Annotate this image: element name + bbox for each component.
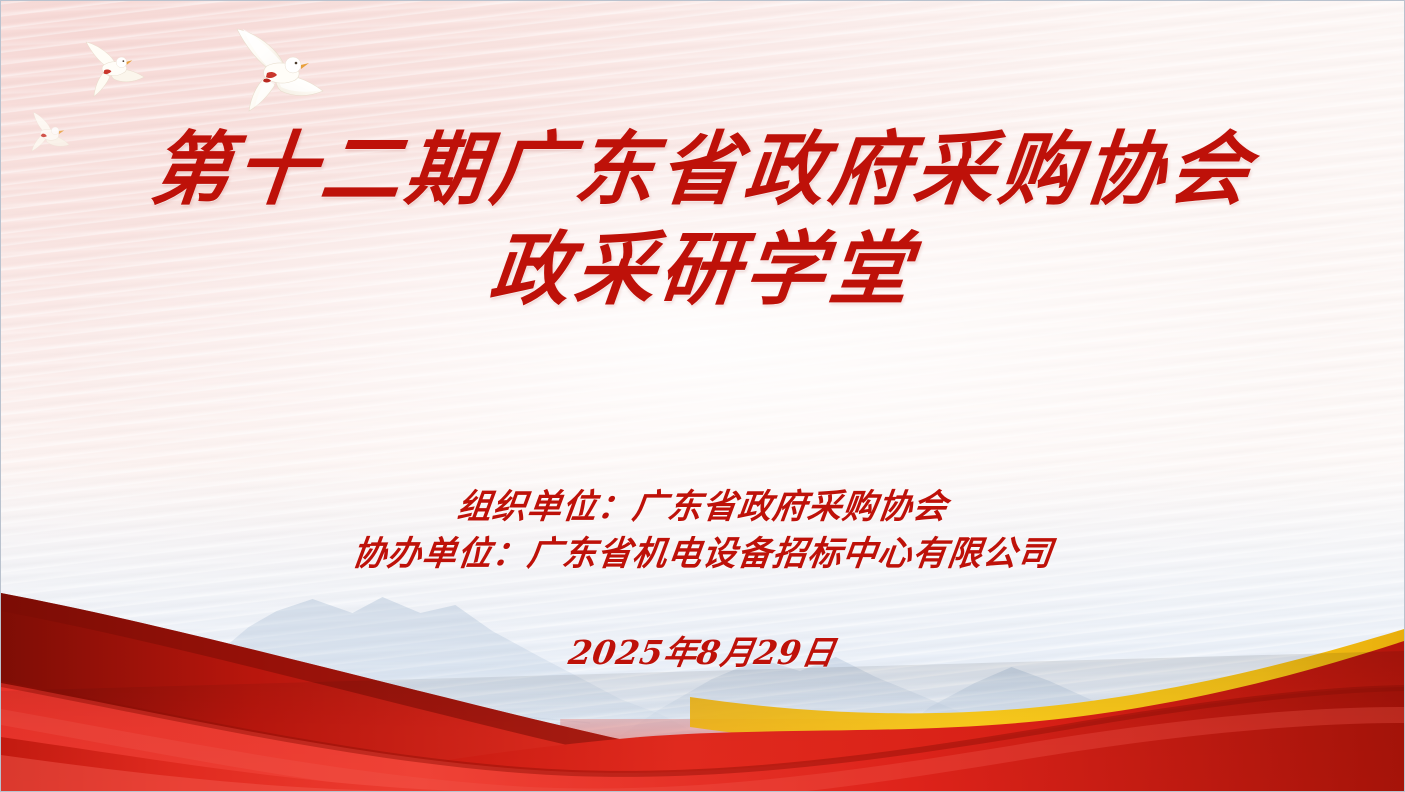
title-block: 第十二期广东省政府采购协会 政采研学堂 <box>1 119 1404 319</box>
page-title-line-2: 政采研学堂 <box>0 219 1405 319</box>
dove-icon <box>197 23 337 119</box>
organizer-block: 组织单位：广东省政府采购协会 协办单位：广东省机电设备招标中心有限公司 <box>1 484 1404 578</box>
event-date: 2025年8月29日 <box>566 631 839 675</box>
co-organizer-line: 协办单位：广东省机电设备招标中心有限公司 <box>0 531 1405 578</box>
date-block: 2025年8月29日 <box>1 631 1404 675</box>
organizer-line: 组织单位：广东省政府采购协会 <box>0 484 1405 531</box>
presentation-slide: 第十二期广东省政府采购协会 政采研学堂 组织单位：广东省政府采购协会 协办单位：… <box>0 0 1405 792</box>
dove-icon <box>60 33 152 104</box>
page-title-line-1: 第十二期广东省政府采购协会 <box>0 119 1405 219</box>
